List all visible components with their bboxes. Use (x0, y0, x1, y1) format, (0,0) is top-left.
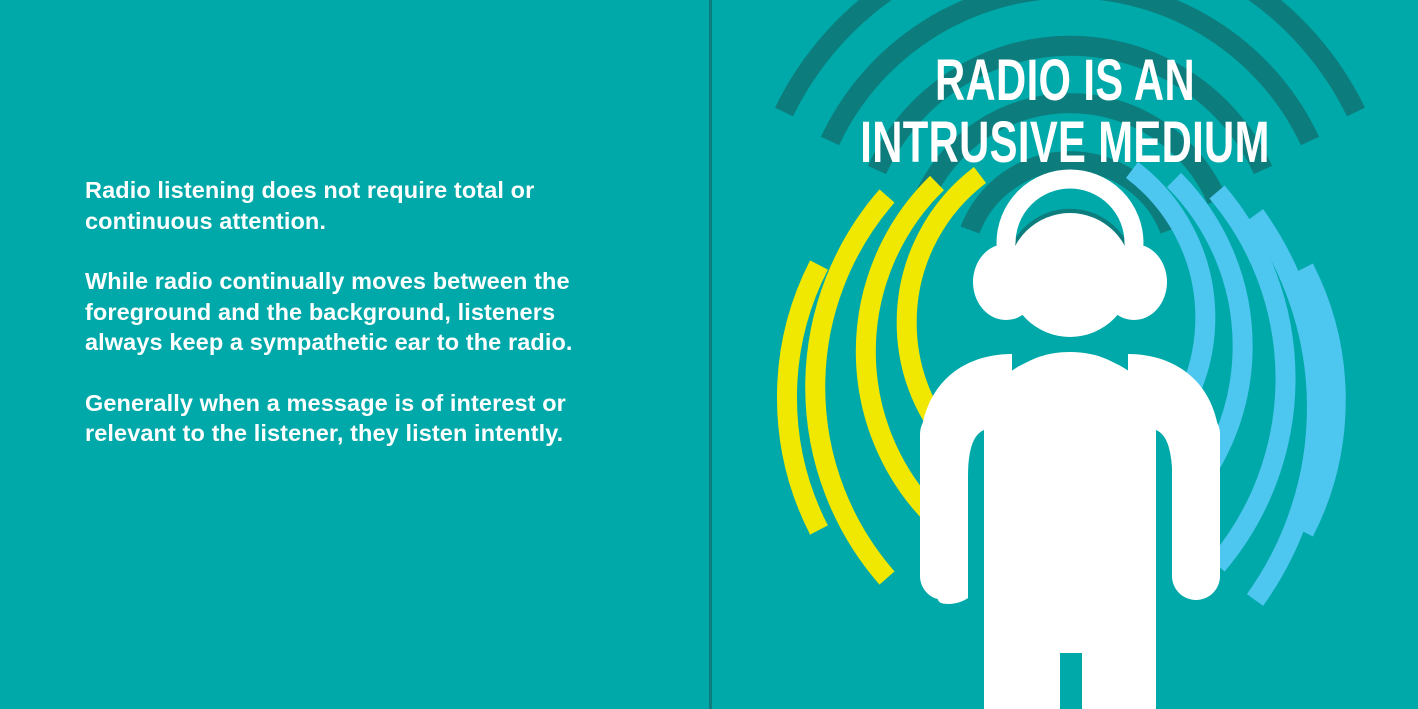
arm-right-gap (1156, 430, 1172, 709)
right-illustration-pane: RADIO IS AN INTRUSIVE MEDIUM (712, 0, 1418, 709)
arm-left-gap (968, 430, 984, 709)
paragraph-2: While radio continually moves between th… (85, 266, 605, 358)
headphone-ear-cup-left-icon (973, 244, 1039, 320)
body-copy: Radio listening does not require total o… (85, 175, 605, 449)
paragraph-3: Generally when a message is of interest … (85, 388, 605, 449)
paragraph-1: Radio listening does not require total o… (85, 175, 605, 236)
headphone-ear-cup-right-icon (1101, 244, 1167, 320)
leg-gap (1060, 653, 1082, 709)
page-title: RADIO IS AN INTRUSIVE MEDIUM (811, 50, 1319, 174)
left-text-pane: Radio listening does not require total o… (0, 0, 709, 709)
slide-canvas: Radio listening does not require total o… (0, 0, 1418, 709)
